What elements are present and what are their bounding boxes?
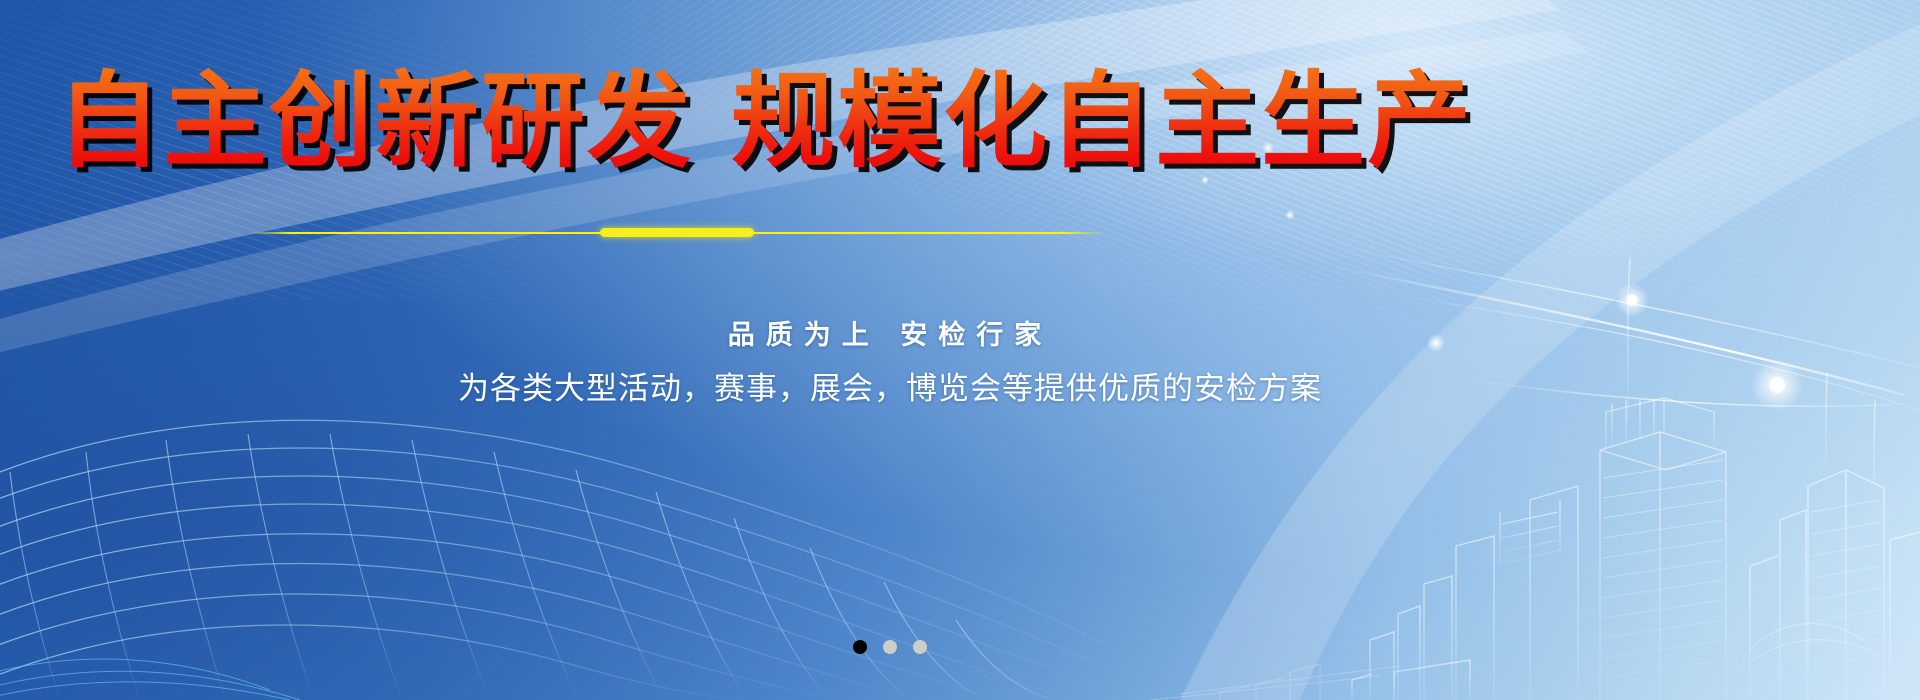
- page-title: 自主创新研发 规模化自主生产: [57, 66, 1473, 176]
- divider-nub: [600, 228, 754, 237]
- hero-banner: 自主创新研发 规模化自主生产 品质为上 安检行家 为各类大型活动，赛事，展会，博…: [0, 0, 1920, 700]
- carousel-dot-3[interactable]: [913, 640, 927, 654]
- carousel-dot-2[interactable]: [883, 640, 897, 654]
- subtitle-secondary: 为各类大型活动，赛事，展会，博览会等提供优质的安检方案: [0, 363, 1780, 408]
- subtitle-primary: 品质为上 安检行家: [0, 313, 1780, 352]
- carousel-dots[interactable]: [0, 640, 1780, 654]
- banner-content: 自主创新研发 规模化自主生产 品质为上 安检行家 为各类大型活动，赛事，展会，博…: [0, 0, 1920, 700]
- yellow-divider: [248, 228, 1106, 238]
- banner-title-wrap: 自主创新研发 规模化自主生产: [0, 66, 1530, 176]
- carousel-dot-1[interactable]: [853, 640, 867, 654]
